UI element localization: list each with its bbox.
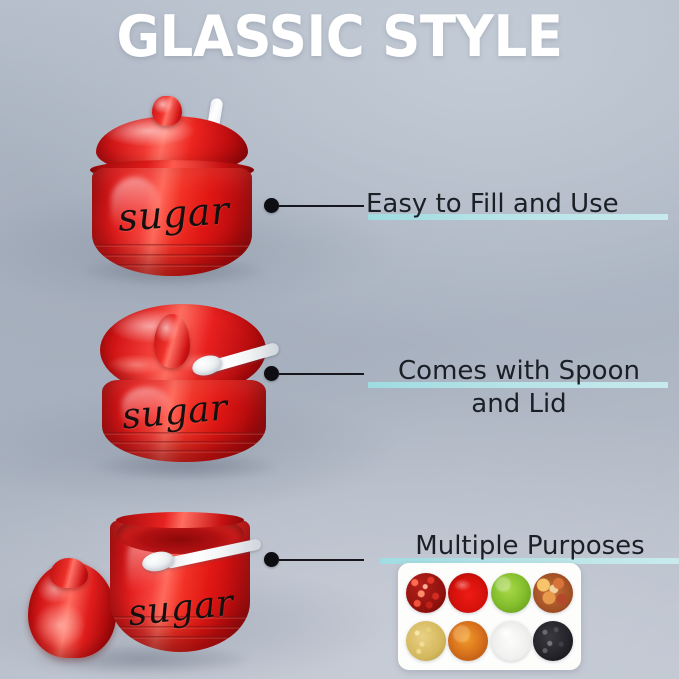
callout-spoon-and-lid [264, 366, 280, 382]
spice-cell-dried-fruit [534, 570, 574, 615]
spice-swatch-chili-flakes [406, 573, 446, 613]
spice-cell-chili-flakes [406, 570, 446, 615]
connector-line [278, 559, 364, 561]
spice-cell-matcha-powder [491, 570, 531, 615]
detached-lid-knob [50, 558, 88, 588]
bullet-dot-icon [264, 552, 279, 567]
spice-swatch-millet-seeds [406, 621, 446, 661]
infographic-canvas: GLASSIC STYLE sugar [0, 0, 679, 679]
connector-line [278, 205, 364, 207]
callout-label-multiple-purposes: Multiple Purposes [382, 530, 678, 563]
spice-swatch-red-sauce [448, 573, 488, 613]
lid-knob [154, 314, 190, 368]
spice-cell-red-sauce [449, 570, 489, 615]
jar-rim [116, 512, 244, 528]
jar-label-text: sugar [117, 188, 231, 240]
product-jar-closed: sugar [78, 88, 268, 283]
connector-line [278, 373, 364, 375]
product-jar-lid-on: sugar [92, 300, 282, 480]
spice-cell-chili-powder [449, 618, 489, 663]
spice-swatch-dried-fruit [533, 573, 573, 613]
spice-cell-millet-seeds [406, 618, 446, 663]
bullet-dot-icon [264, 366, 279, 381]
bullet-dot-icon [264, 198, 279, 213]
spice-swatch-black-seeds [533, 621, 573, 661]
lid-knob [152, 96, 182, 126]
spice-swatch-chili-powder [448, 621, 488, 661]
callout-multiple-purposes [264, 552, 280, 568]
callout-label-spoon-and-lid: Comes with Spoon and Lid [366, 355, 672, 421]
callout-easy-to-fill [264, 198, 280, 214]
callout-label-easy-to-fill: Easy to Fill and Use [366, 188, 672, 221]
product-jar-open: sugar [24, 502, 256, 674]
spice-cell-black-seeds [534, 618, 574, 663]
spice-cell-white-sugar [491, 618, 531, 663]
spice-swatch-matcha-powder [491, 573, 531, 613]
spice-swatch-white-sugar [491, 621, 531, 661]
spice-grid-card [398, 563, 581, 670]
page-title: GLASSIC STYLE [24, 6, 655, 68]
